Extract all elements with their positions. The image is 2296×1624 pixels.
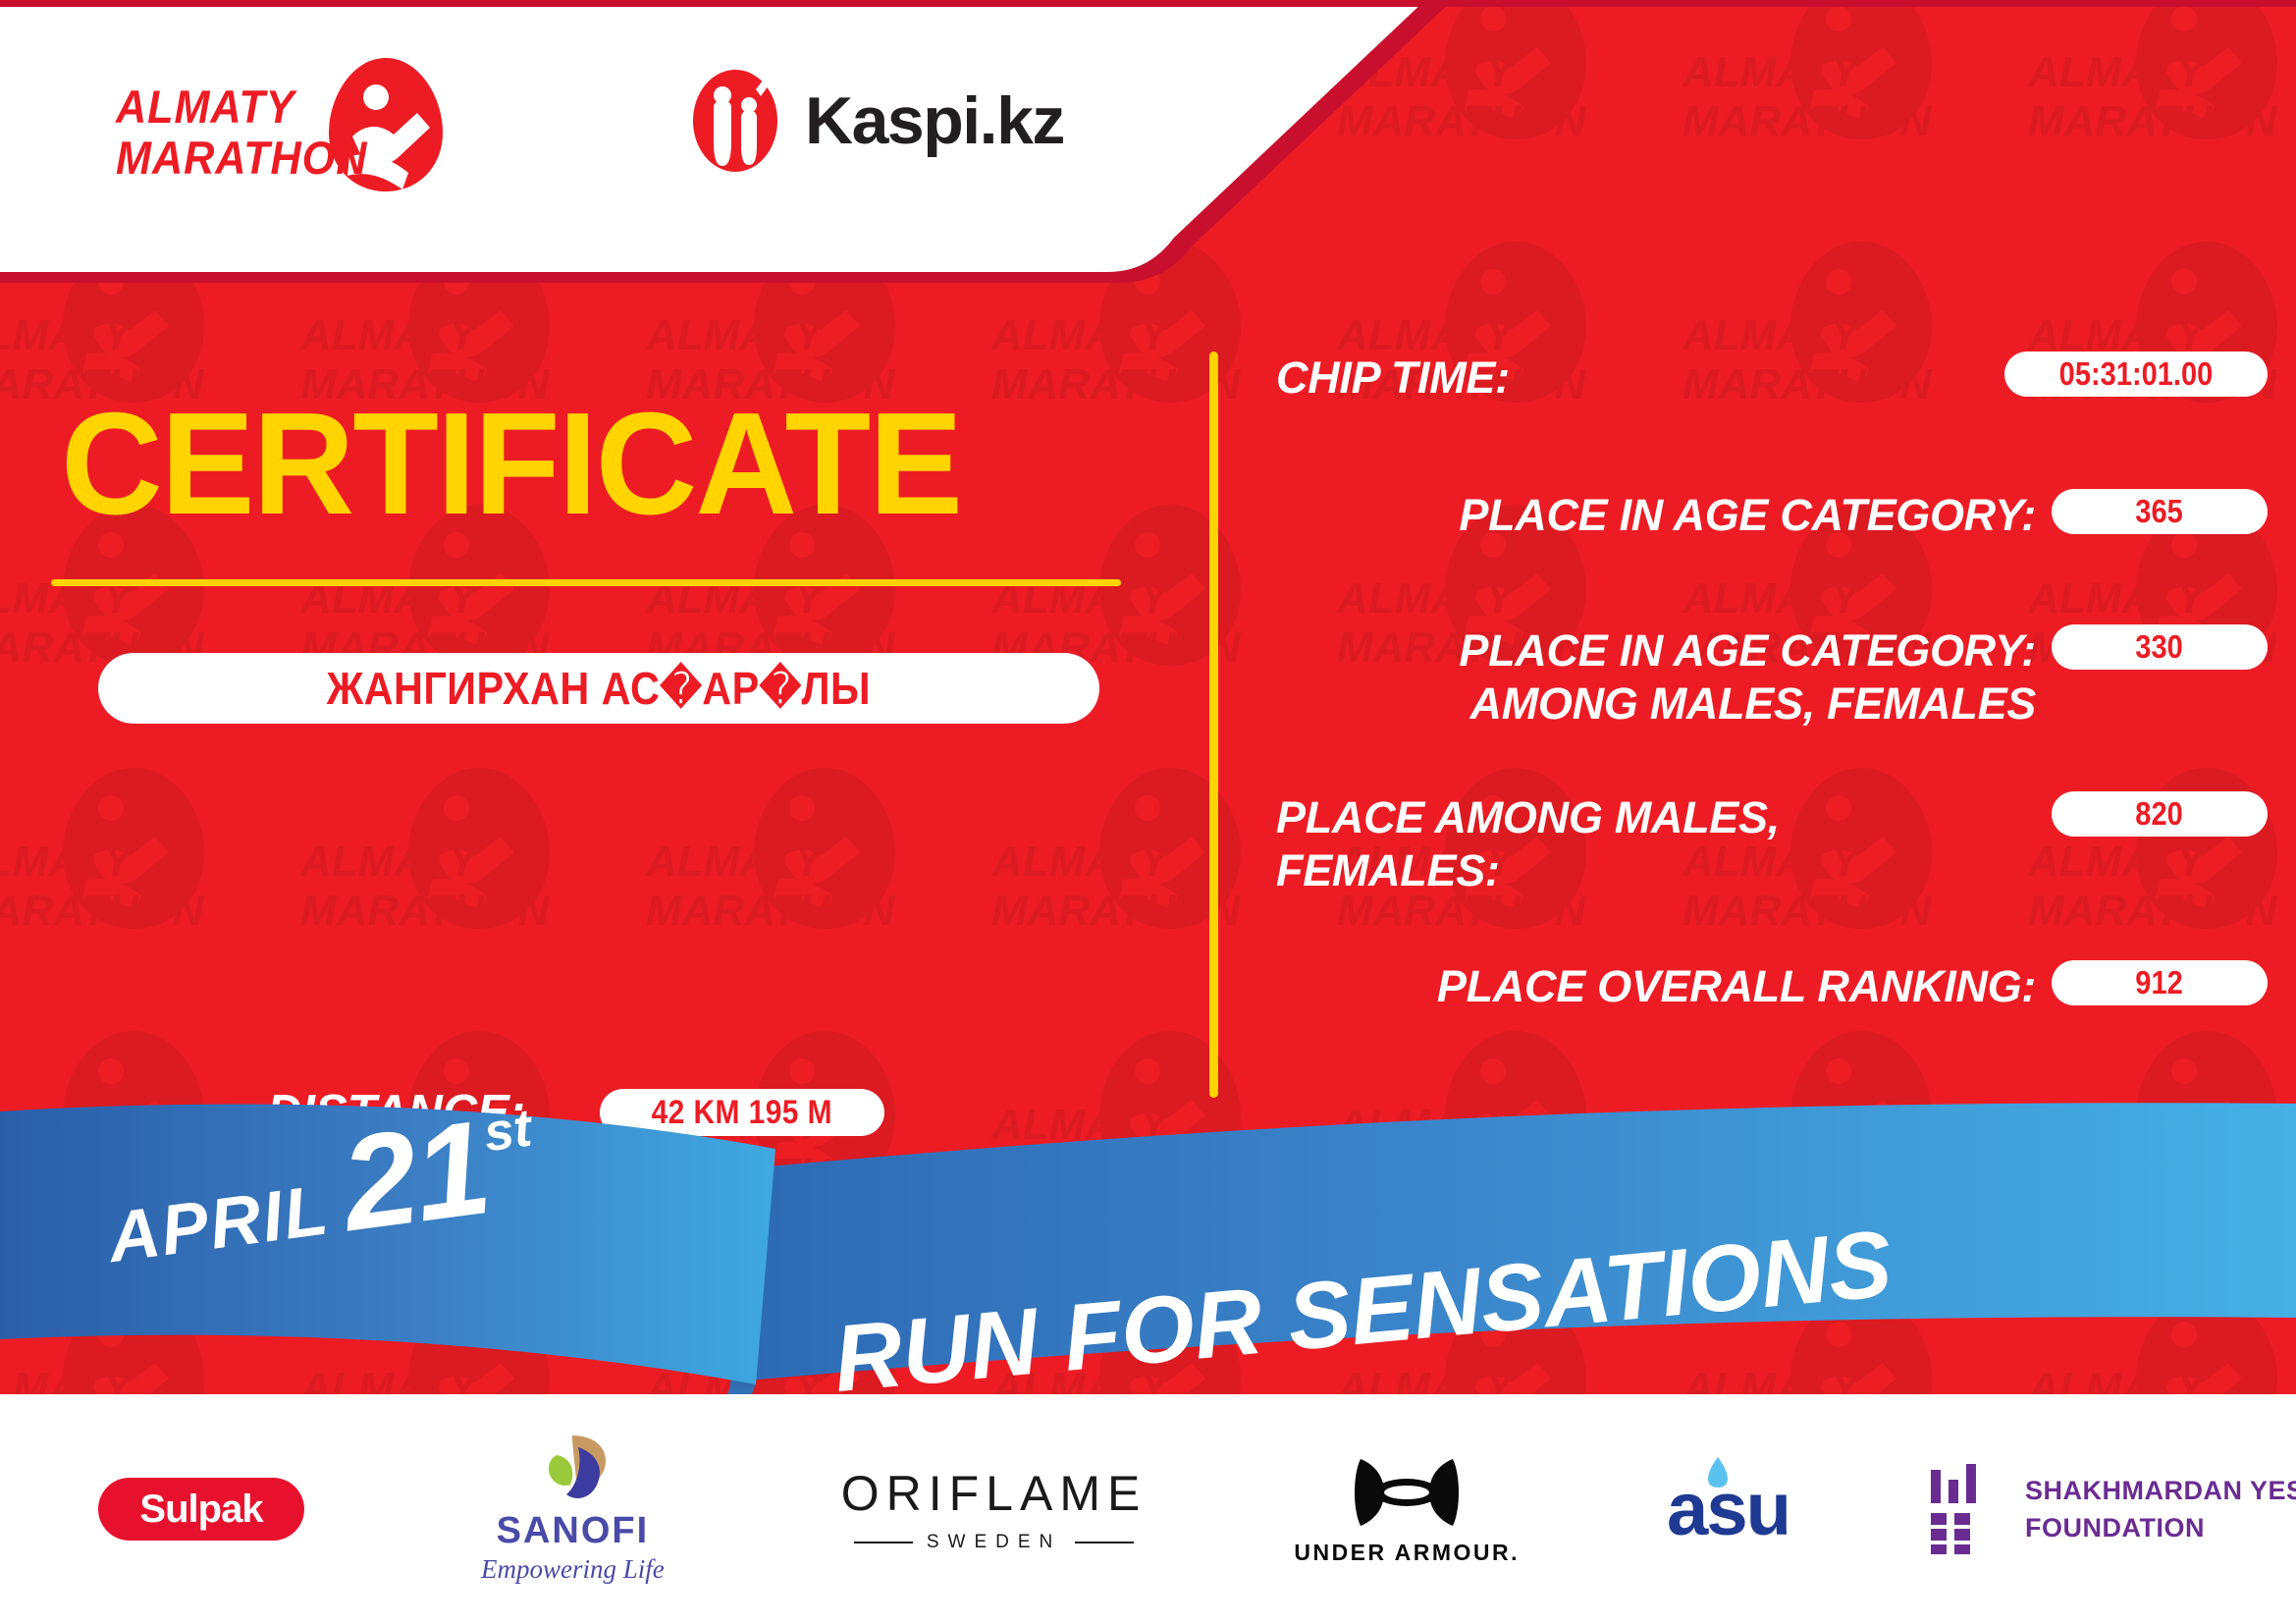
sanofi-tagline: Empowering Life: [481, 1554, 665, 1585]
oriflame-rule-left: [854, 1542, 913, 1543]
gender-place-value-pill: 820: [2052, 791, 2268, 837]
yessenov-wordmark: SHAKHMARDAN YESSENOV FOUNDATION: [2025, 1472, 2296, 1546]
distance-value: 42 KM 195 M: [652, 1094, 832, 1132]
sulpak-wordmark: Sulpak: [139, 1488, 262, 1532]
gender-place-label-line1: PLACE AMONG MALES,: [1276, 791, 2036, 844]
runner-name-field: ЖАНГИРХАН АС�АР�ЛЫ: [98, 653, 1099, 724]
event-day-ordinal: st: [480, 1098, 535, 1164]
column-divider: [1209, 352, 1218, 1098]
overall-ranking-value: 912: [2136, 964, 2183, 1001]
overall-ranking-label: PLACE OVERALL RANKING:: [1276, 960, 2036, 1013]
sponsor-under-armour: UNDER ARMOUR.: [1294, 1453, 1520, 1566]
age-category-gender-value-pill: 330: [2052, 624, 2268, 670]
under-armour-icon: [1349, 1453, 1465, 1532]
top-accent-rule: [0, 0, 2296, 7]
kaspi-people-icon: [687, 68, 783, 174]
gender-place-label-line2: FEMALES:: [1276, 844, 2036, 897]
sponsor-oriflame: ORIFLAME SWEDEN: [841, 1465, 1148, 1553]
sponsor-sulpak: Sulpak: [98, 1478, 304, 1541]
sanofi-mark-icon: [527, 1434, 617, 1506]
result-row-age-category-gender: PLACE IN AGE CATEGORY: AMONG MALES, FEMA…: [1276, 624, 2268, 731]
age-category-gender-label-line1: PLACE IN AGE CATEGORY:: [1276, 624, 2036, 677]
chip-time-label: CHIP TIME:: [1276, 352, 1989, 405]
oriflame-wordmark: ORIFLAME: [841, 1465, 1148, 1522]
sponsor-bar: Sulpak SANOFI Empowering Life ORIFLAME S…: [0, 1394, 2296, 1624]
chip-time-value: 05:31:01.00: [2059, 355, 2214, 393]
sulpak-logo: Sulpak: [98, 1478, 304, 1541]
result-row-chip-time: CHIP TIME: 05:31:01.00: [1276, 352, 2268, 405]
runner-name-text: ЖАНГИРХАН АС�АР�ЛЫ: [327, 662, 871, 715]
oriflame-sweden-text: SWEDEN: [927, 1532, 1061, 1553]
asu-wordmark: asu: [1667, 1467, 1789, 1552]
finish-time-value-pill: 05:31:25.00: [595, 1217, 880, 1264]
certificate-page: ALMATY MARATHON CERTIFICATE ЖАНГИРХАН АС…: [0, 0, 2296, 1624]
sponsor-sanofi: SANOFI Empowering Life: [481, 1434, 665, 1585]
yessenov-bars-icon: [1927, 1464, 2002, 1554]
kaspi-wordmark: Kaspi.kz: [805, 82, 1064, 159]
result-row-age-category: PLACE IN AGE CATEGORY: 365: [1276, 489, 2268, 542]
logo-line-marathon: MARATHON: [116, 133, 367, 184]
results-column: CHIP TIME: 05:31:01.00 PLACE IN AGE CATE…: [1276, 352, 2268, 1108]
almaty-marathon-wordmark: ALMATY MARATHON: [116, 81, 367, 184]
oriflame-sub: SWEDEN: [854, 1532, 1134, 1553]
kaspi-logo: Kaspi.kz: [687, 67, 1064, 175]
title-underline: [51, 579, 1121, 586]
left-column: CERTIFICATE ЖАНГИРХАН АС�АР�ЛЫ DISTANCE:…: [0, 295, 1178, 1100]
result-row-gender: PLACE AMONG MALES, FEMALES: 820: [1276, 791, 2268, 897]
event-day: 21: [334, 1090, 497, 1261]
age-category-label: PLACE IN AGE CATEGORY:: [1276, 489, 2036, 542]
yessenov-line2: FOUNDATION: [2025, 1509, 2296, 1546]
sanofi-wordmark: SANOFI: [497, 1510, 650, 1552]
under-armour-wordmark: UNDER ARMOUR.: [1294, 1540, 1520, 1566]
age-category-gender-value: 330: [2136, 628, 2183, 666]
oriflame-rule-right: [1075, 1542, 1134, 1543]
page-title: CERTIFICATE: [61, 381, 961, 548]
event-month: APRIL: [103, 1169, 334, 1278]
gender-place-label: PLACE AMONG MALES, FEMALES:: [1276, 791, 2036, 897]
overall-ranking-value-pill: 912: [2052, 960, 2268, 1005]
logo-line-almaty: ALMATY: [116, 81, 367, 133]
distance-value-pill: 42 KM 195 M: [600, 1089, 884, 1136]
gender-place-value: 820: [2136, 795, 2183, 833]
sponsor-asu: asu: [1667, 1467, 1789, 1552]
result-row-overall: PLACE OVERALL RANKING: 912: [1276, 960, 2268, 1013]
finish-time-value: 05:31:25.00: [655, 1221, 818, 1260]
age-category-gender-label-line2: AMONG MALES, FEMALES: [1276, 677, 2036, 731]
age-category-gender-label: PLACE IN AGE CATEGORY: AMONG MALES, FEMA…: [1276, 624, 2036, 731]
asu-drop-icon: [1706, 1455, 1730, 1489]
age-category-value-pill: 365: [2052, 489, 2268, 534]
sponsor-yessenov-foundation: SHAKHMARDAN YESSENOV FOUNDATION: [1927, 1464, 2296, 1554]
almaty-marathon-logo: ALMATY MARATHON: [116, 54, 440, 191]
age-category-value: 365: [2136, 493, 2183, 530]
yessenov-line1: SHAKHMARDAN YESSENOV: [2025, 1472, 2296, 1509]
chip-time-value-pill: 05:31:01.00: [2004, 352, 2268, 397]
